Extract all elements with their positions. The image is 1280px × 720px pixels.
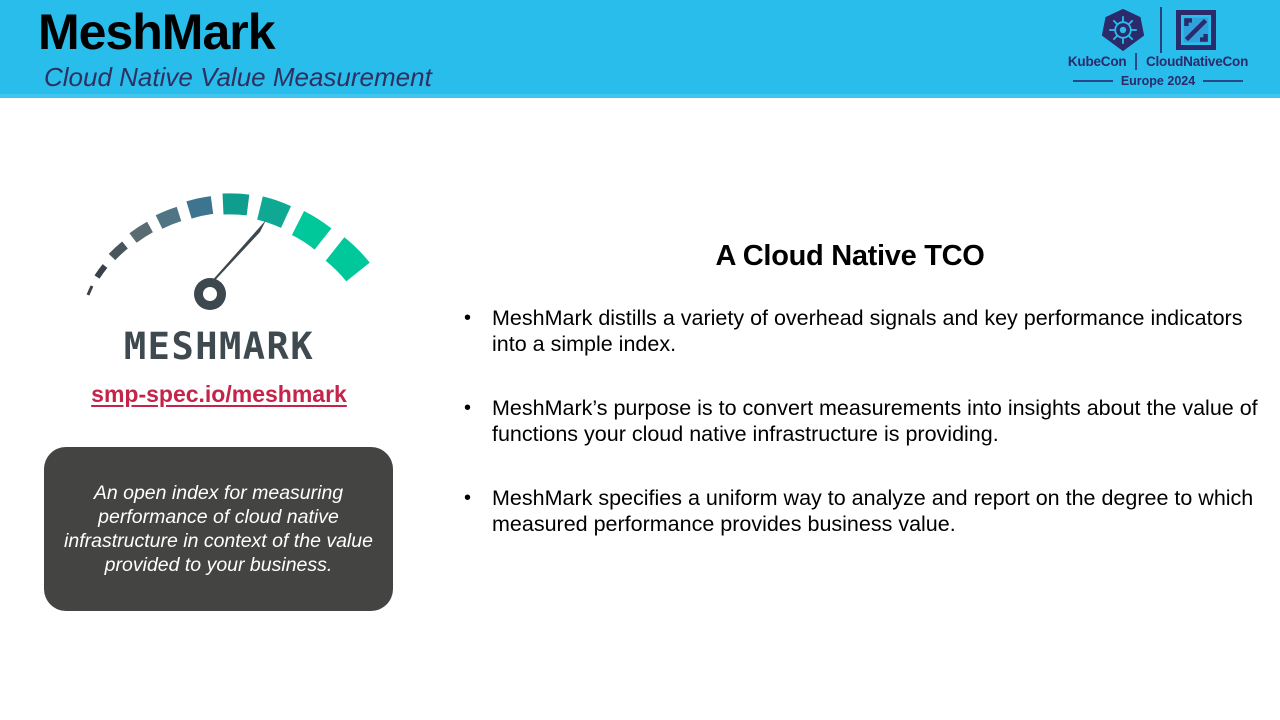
list-item: • MeshMark distills a variety of overhea…: [458, 305, 1258, 357]
list-item-text: MeshMark’s purpose is to convert measure…: [492, 395, 1258, 447]
header-band-underline: [0, 94, 1280, 98]
bullet-icon: •: [458, 395, 492, 421]
content-heading: A Cloud Native TCO: [440, 238, 1260, 274]
list-item-text: MeshMark specifies a uniform way to anal…: [492, 485, 1258, 537]
edition-label: Europe 2024: [1121, 74, 1195, 88]
callout-text: An open index for measuring performance …: [58, 481, 379, 577]
list-item: • MeshMark’s purpose is to convert measu…: [458, 395, 1258, 447]
page-title: MeshMark: [38, 2, 275, 62]
logo-divider: [1160, 7, 1162, 53]
logo-icons: [1048, 6, 1268, 54]
list-item: • MeshMark specifies a uniform way to an…: [458, 485, 1258, 537]
callout-box: An open index for measuring performance …: [44, 447, 393, 611]
kubernetes-helm-icon: [1100, 7, 1146, 53]
logo-edition: Europe 2024: [1048, 74, 1268, 88]
bullet-list: • MeshMark distills a variety of overhea…: [458, 305, 1258, 575]
kubecon-cloudnativecon-logo: KubeCon CloudNativeCon Europe 2024: [1048, 6, 1268, 94]
bullet-icon: •: [458, 305, 492, 331]
logo-name-divider: [1135, 53, 1137, 70]
gauge-needle: [194, 220, 266, 310]
spec-link[interactable]: smp-spec.io/meshmark: [44, 380, 394, 408]
gauge-segments: [88, 204, 358, 295]
list-item-text: MeshMark distills a variety of overhead …: [492, 305, 1258, 357]
logo-names: KubeCon CloudNativeCon: [1048, 53, 1268, 70]
cloudnativecon-label: CloudNativeCon: [1146, 54, 1248, 69]
kubecon-label: KubeCon: [1068, 54, 1127, 69]
meshmark-wordmark: MESHMARK: [44, 325, 394, 369]
bullet-icon: •: [458, 485, 492, 511]
edition-rule-right: [1203, 80, 1243, 82]
cloudnativecon-square-icon: [1176, 10, 1216, 50]
edition-rule-left: [1073, 80, 1113, 82]
meshmark-gauge-graphic: [70, 160, 390, 320]
page-subtitle: Cloud Native Value Measurement: [44, 62, 432, 92]
